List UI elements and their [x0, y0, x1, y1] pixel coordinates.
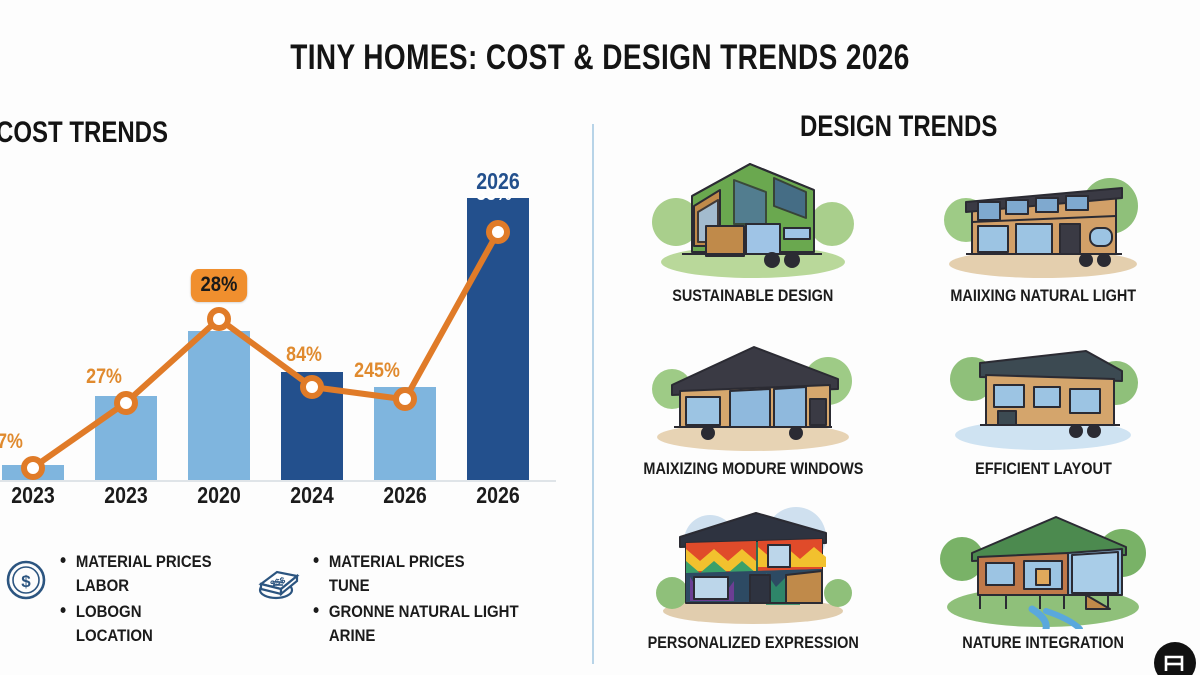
dollar-coin-icon: $	[2, 556, 50, 604]
bar-top-label-5: 2026	[476, 168, 519, 195]
cost-bullets-right: $$$ MATERIAL PRICES TUNEGRONNE NATURAL L…	[255, 548, 555, 650]
design-trend-caption-2: MAIXIZING MODURE WINDOWS	[643, 459, 863, 479]
design-trend-card-0[interactable]: SUSTAINABLE DESIGN	[608, 150, 898, 323]
cost-trends-heading: COST TRENDS	[0, 116, 168, 150]
money-stack-icon: $$$	[255, 556, 303, 604]
stilt-creek-tiny-home-illustration	[936, 497, 1151, 629]
large-window-tiny-home-illustration	[646, 323, 861, 455]
line-point-1	[114, 391, 138, 415]
x-axis-label-4: 2026	[383, 482, 426, 509]
design-trend-caption-0: SUSTAINABLE DESIGN	[672, 286, 833, 306]
green-solar-tiny-home-illustration	[646, 150, 861, 282]
x-axis-label-3: 2024	[290, 482, 333, 509]
trend-line	[0, 170, 570, 482]
cost-bullet-right-0: MATERIAL PRICES TUNE	[313, 550, 519, 598]
point-label-3: 84%	[286, 343, 322, 367]
point-label-0: 37%	[0, 430, 23, 454]
line-point-4	[393, 387, 417, 411]
compact-cabin-tiny-home-illustration	[936, 323, 1151, 455]
page-title: TINY HOMES: COST & DESIGN TRENDS 2026	[120, 38, 1080, 78]
design-trend-caption-4: PERSONALIZED EXPRESSION	[647, 633, 858, 653]
design-trends-grid: SUSTAINABLE DESIGN MAIIXING NATURAL LIGH…	[608, 150, 1188, 670]
x-axis-label-1: 2023	[104, 482, 147, 509]
design-trends-heading: DESIGN TRENDS	[800, 110, 997, 144]
design-trend-card-1[interactable]: MAIIXING NATURAL LIGHT	[898, 150, 1188, 323]
x-axis-label-2: 2020	[197, 482, 240, 509]
cost-trends-chart: 37%27%28%84%245%33% 2026	[0, 170, 570, 482]
point-label-2: 28%	[191, 269, 247, 302]
design-trend-caption-5: NATURE INTEGRATION	[962, 633, 1124, 653]
line-point-3	[300, 375, 324, 399]
brand-logo-mark	[1152, 640, 1198, 675]
cost-bullet-left-0: MATERIAL PRICES LABOR	[60, 550, 212, 598]
mural-painted-tiny-home-illustration	[646, 497, 861, 629]
design-trend-card-4[interactable]: PERSONALIZED EXPRESSION	[608, 497, 898, 670]
design-trend-card-2[interactable]: MAIXIZING MODURE WINDOWS	[608, 323, 898, 496]
x-axis-labels: 202320232020202420262026	[0, 482, 570, 516]
design-trend-card-5[interactable]: NATURE INTEGRATION	[898, 497, 1188, 670]
cost-bullet-right-1: GRONNE NATURAL LIGHT ARINE	[313, 600, 519, 648]
point-label-1: 27%	[86, 365, 122, 389]
design-trend-card-3[interactable]: EFFICIENT LAYOUT	[898, 323, 1188, 496]
section-divider	[592, 124, 594, 664]
wood-clerestory-tiny-home-illustration	[936, 150, 1151, 282]
cost-bullet-list-right: MATERIAL PRICES TUNEGRONNE NATURAL LIGHT…	[313, 548, 547, 650]
design-trend-caption-1: MAIIXING NATURAL LIGHT	[950, 286, 1136, 306]
point-label-4: 245%	[354, 359, 400, 383]
design-trend-caption-3: EFFICIENT LAYOUT	[975, 459, 1112, 479]
cost-bullet-left-1: LOBOGN LOCATION	[60, 600, 212, 648]
x-axis-label-5: 2026	[476, 482, 519, 509]
line-point-5	[486, 220, 510, 244]
cost-bullet-list-left: MATERIAL PRICES LABORLOBOGN LOCATION	[60, 548, 232, 650]
infographic-canvas: TINY HOMES: COST & DESIGN TRENDS 2026 CO…	[0, 0, 1200, 675]
svg-text:$: $	[21, 572, 31, 591]
line-point-2	[207, 307, 231, 331]
x-axis-label-0: 2023	[11, 482, 54, 509]
cost-bullets-left: $ MATERIAL PRICES LABORLOBOGN LOCATION	[2, 548, 262, 650]
line-point-0	[21, 456, 45, 480]
